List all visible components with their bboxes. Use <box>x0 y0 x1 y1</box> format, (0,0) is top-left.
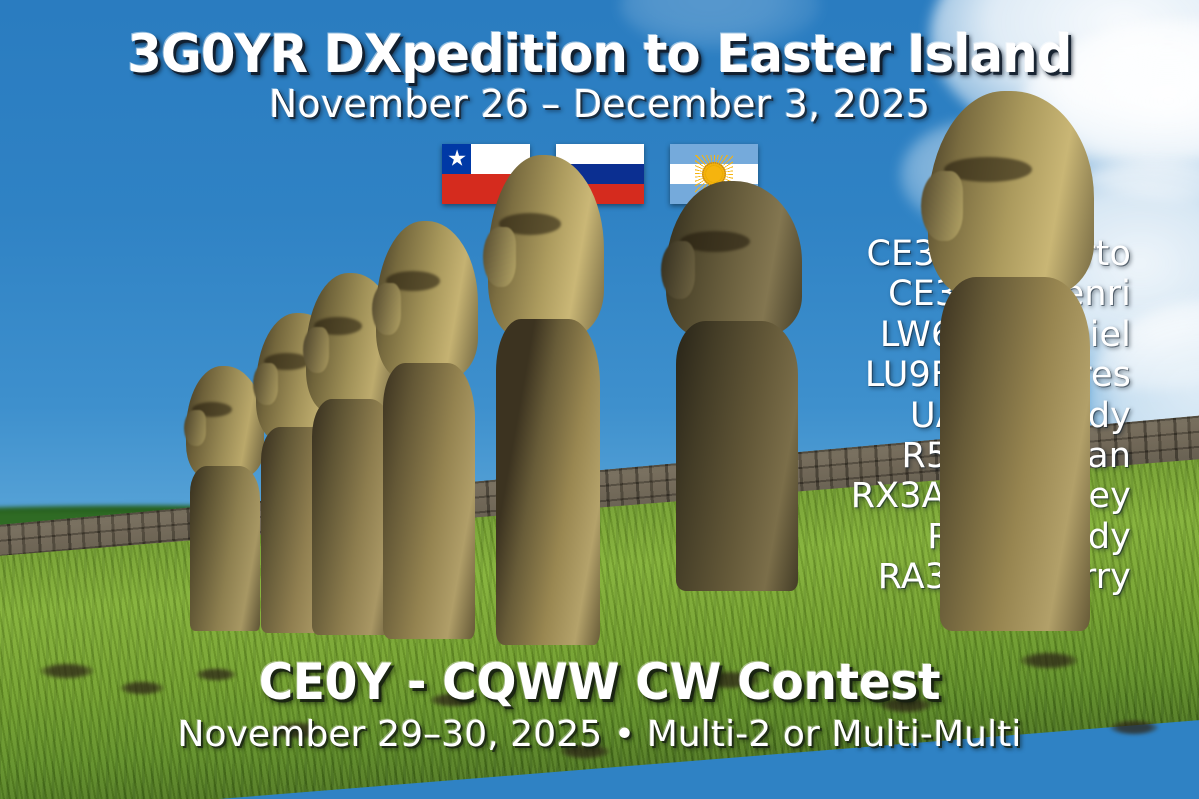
contest-details: November 29–30, 2025 • Multi-2 or Multi-… <box>0 714 1199 755</box>
contest-title: CE0Y - CQWW CW Contest <box>36 653 1163 711</box>
page-title: 3G0YR DXpedition to Easter Island <box>39 24 1160 85</box>
moai-statue <box>488 155 604 645</box>
moai-statue <box>376 221 478 639</box>
moai-statue <box>186 366 264 631</box>
moai-statue <box>666 181 802 591</box>
moai-statue <box>928 91 1094 631</box>
dxpedition-poster: 3G0YR DXpedition to Easter Island Novemb… <box>0 0 1199 799</box>
